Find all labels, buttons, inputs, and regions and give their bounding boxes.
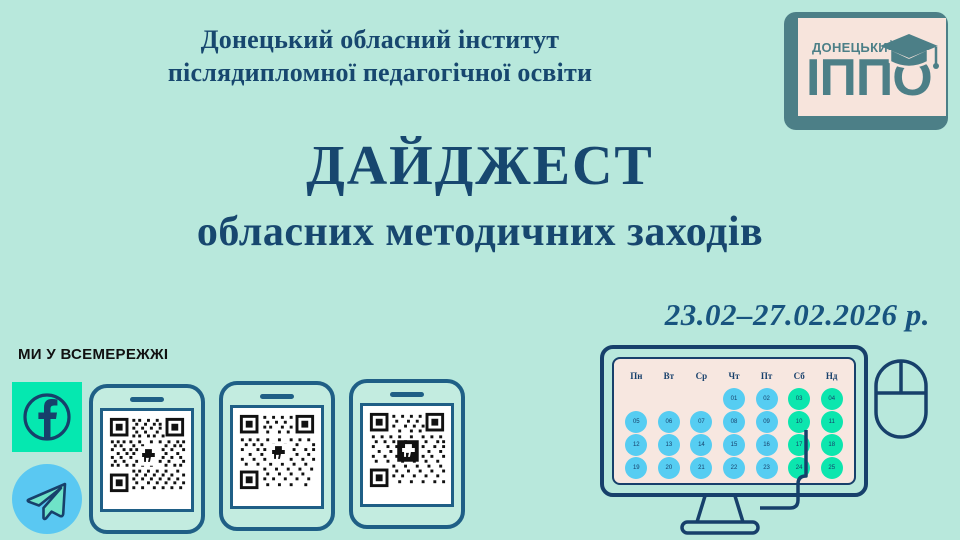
- calendar-weekday-header: Сб: [794, 371, 805, 381]
- calendar-day[interactable]: 05: [625, 411, 647, 433]
- qr-code-icon: [366, 409, 448, 491]
- phone-mockup[interactable]: [219, 381, 335, 531]
- date-range: 23.02–27.02.2026 р.: [665, 297, 930, 333]
- phone-speaker: [130, 397, 164, 402]
- calendar-day[interactable]: 12: [625, 434, 647, 456]
- page-subtitle: обласних методичних заходів: [0, 208, 960, 256]
- poster-canvas: Донецький обласний інститут післядипломн…: [0, 0, 960, 540]
- calendar-day[interactable]: 13: [658, 434, 680, 456]
- organization-title: Донецький обласний інститут післядипломн…: [0, 24, 760, 90]
- calendar-day-empty: [658, 388, 680, 410]
- graduation-cap-icon: [878, 30, 940, 76]
- facebook-icon: [12, 382, 82, 452]
- calendar-day[interactable]: 08: [723, 411, 745, 433]
- calendar-day[interactable]: 06: [658, 411, 680, 433]
- calendar-day-empty: [625, 388, 647, 410]
- phone-screen: [230, 405, 324, 509]
- org-title-line1: Донецький обласний інститут: [201, 25, 560, 54]
- calendar-day[interactable]: 01: [723, 388, 745, 410]
- calendar-day[interactable]: 19: [625, 457, 647, 479]
- calendar-day[interactable]: 14: [690, 434, 712, 456]
- phone-mockup[interactable]: [349, 379, 465, 529]
- calendar-day[interactable]: 20: [658, 457, 680, 479]
- calendar-weekday-header: Нд: [826, 371, 838, 381]
- logo-panel: ДОНЕЦЬКИЙ ІППО: [798, 18, 946, 116]
- page-title: ДАЙДЖЕСТ: [0, 138, 960, 194]
- phone-mockup[interactable]: [89, 384, 205, 534]
- date-range-value: 23.02–27.02.2026: [665, 297, 898, 332]
- qr-code-icon: [106, 414, 188, 496]
- phone-screen: [100, 408, 194, 512]
- ippo-logo: ДОНЕЦЬКИЙ ІППО: [784, 12, 948, 130]
- social-heading: МИ У ВСЕМЕРЕЖЖІ: [18, 346, 168, 363]
- qr-code-icon: [236, 411, 318, 493]
- calendar-day-empty: [690, 388, 712, 410]
- telegram-icon: [12, 464, 82, 534]
- computer-mouse-icon: [862, 355, 940, 475]
- org-title-line2: післядипломної педагогічної освіти: [0, 57, 760, 90]
- calendar-day[interactable]: 15: [723, 434, 745, 456]
- telegram-button[interactable]: [12, 464, 82, 534]
- calendar-day[interactable]: 21: [690, 457, 712, 479]
- calendar-weekday-header: Пт: [761, 371, 772, 381]
- calendar-day[interactable]: 07: [690, 411, 712, 433]
- calendar-weekday-header: Вт: [664, 371, 674, 381]
- calendar-weekday-header: Пн: [630, 371, 642, 381]
- phone-screen: [360, 403, 454, 507]
- calendar-day[interactable]: 22: [723, 457, 745, 479]
- calendar-weekday-header: Чт: [728, 371, 739, 381]
- calendar-weekday-header: Ср: [696, 371, 708, 381]
- date-suffix: р.: [906, 297, 930, 332]
- phone-speaker: [260, 394, 294, 399]
- phone-speaker: [390, 392, 424, 397]
- facebook-button[interactable]: [12, 382, 82, 452]
